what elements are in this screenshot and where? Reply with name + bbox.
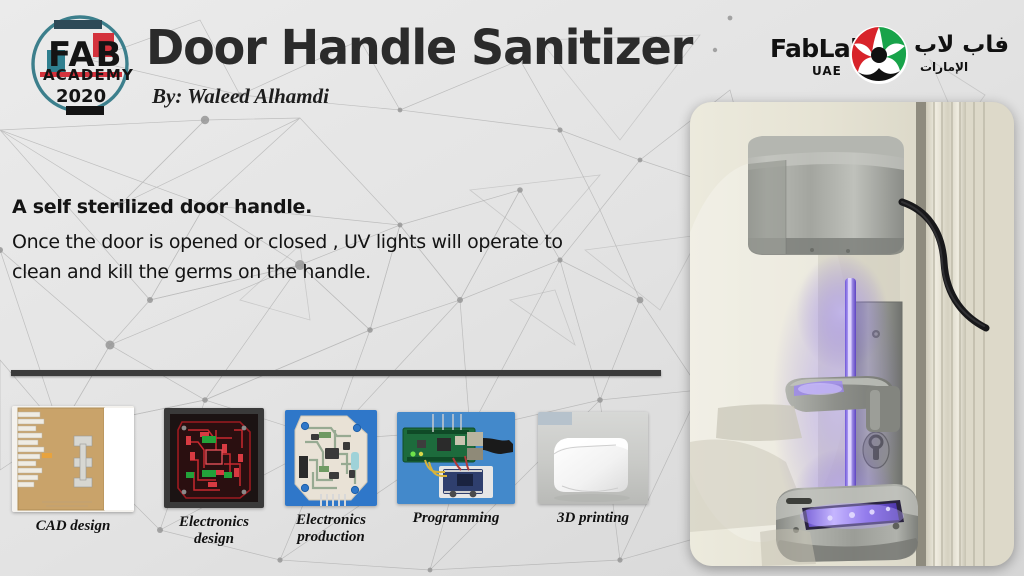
description-line-1: Once the door is opened or closed , UV l…	[12, 227, 672, 257]
cad-design-image	[12, 406, 134, 512]
3d-printing-image	[538, 412, 648, 504]
programming-image	[397, 412, 515, 504]
fablab-uae-logo: FabLab UAE فاب لاب الإمارات	[770, 24, 970, 96]
thumb-caption: CAD design	[36, 518, 111, 535]
description-headline: A self sterilized door handle.	[12, 196, 672, 218]
thumb-caption: 3D printing	[557, 510, 629, 527]
thumb-3d-printing[interactable]: 3D printing	[538, 412, 648, 576]
thumb-caption: Electronics production	[277, 512, 385, 546]
author-byline: By: Waleed Alhamdi	[152, 84, 329, 109]
fablab-globe-icon	[848, 24, 910, 86]
poster-root: FAB ACADEMY 2020 FAB ACADEMY 2020 Door H…	[0, 0, 1024, 576]
product-photo-image	[690, 102, 1014, 566]
thumb-caption: Electronics design	[160, 514, 268, 548]
electronics-production-image	[285, 410, 377, 506]
product-photo[interactable]	[690, 102, 1014, 566]
fablab-arabic-sub: الإمارات	[920, 60, 968, 74]
process-thumbnail-row: CAD design	[0, 406, 672, 576]
thumb-electronics-production[interactable]: Electronics production	[285, 410, 377, 576]
thumb-caption: Programming	[413, 510, 500, 527]
thumb-programming[interactable]: Programming	[397, 412, 515, 576]
fablab-arabic-main: فاب لاب	[914, 32, 1009, 58]
svg-text:2020: 2020	[56, 86, 106, 107]
description-line-2: clean and kill the germs on the handle.	[12, 257, 672, 287]
description-block: A self sterilized door handle. Once the …	[12, 196, 672, 287]
section-divider	[11, 370, 661, 376]
electronics-design-image	[164, 408, 264, 508]
fab-academy-logo: FAB ACADEMY 2020	[22, 8, 138, 120]
thumb-cad-design[interactable]: CAD design	[12, 406, 134, 576]
svg-text:ACADEMY: ACADEMY	[43, 66, 134, 84]
thumb-electronics-design[interactable]: Electronics design	[164, 408, 264, 576]
page-title: Door Handle Sanitizer	[146, 20, 692, 76]
fablab-subtitle: UAE	[812, 64, 842, 78]
